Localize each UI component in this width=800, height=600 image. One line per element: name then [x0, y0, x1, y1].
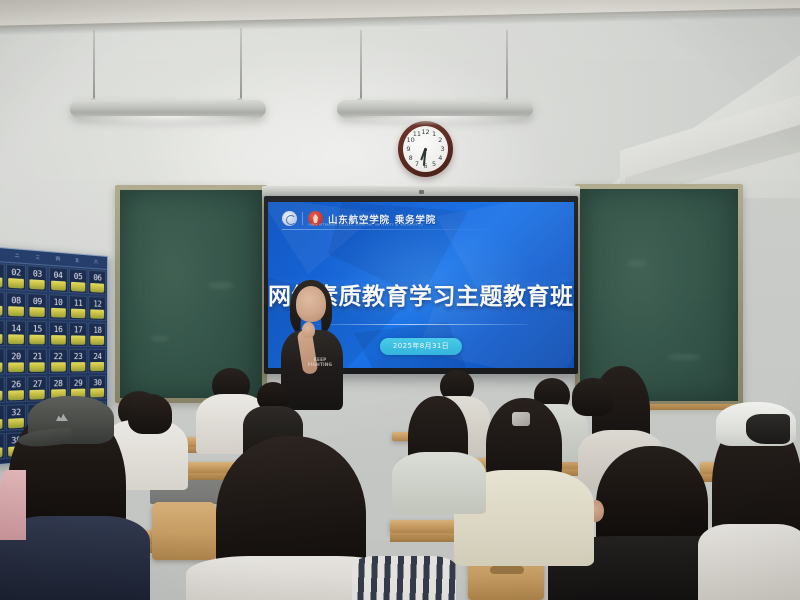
- pocket-chart-number: 06: [90, 273, 106, 282]
- pocket-chart-header-cell: 五: [68, 258, 87, 264]
- pocket-chart-cell: 25: [0, 377, 4, 404]
- lamp-wire-right-b: [506, 30, 508, 102]
- student-pink-sliver: [0, 470, 26, 540]
- pocket-chart-number: 13: [0, 323, 3, 332]
- pocket-chart-number: 05: [70, 272, 86, 281]
- pendant-lamp-right: [337, 100, 533, 118]
- pocket-chart-number: 18: [90, 326, 106, 334]
- chair-handle-slot: [490, 566, 524, 574]
- pocket-chart-number: 19: [0, 352, 3, 360]
- pocket-chart-pouch: [71, 309, 85, 319]
- pocket-chart-number: 26: [7, 380, 25, 388]
- pocket-chart-number: 27: [29, 380, 47, 388]
- pocket-chart-pouch: [51, 308, 66, 318]
- pocket-chart-row: 070809101112: [0, 290, 107, 322]
- pocket-chart-cell: 31: [0, 405, 4, 432]
- pocket-chart-cell: 12: [89, 296, 107, 321]
- pocket-chart-cell: 16: [49, 321, 68, 346]
- lamp-wire-left-b: [240, 28, 242, 102]
- pocket-chart-cell: 19: [0, 348, 4, 374]
- pocket-chart-cell: 24: [89, 349, 107, 373]
- pocket-chart-cell: 10: [49, 294, 68, 320]
- pocket-chart-row: 131415161718: [0, 318, 107, 348]
- pocket-chart-number: 22: [50, 352, 67, 360]
- pocket-chart-number: 04: [50, 271, 67, 280]
- pocket-chart-number: 11: [70, 299, 86, 307]
- clock-numeral: 4: [438, 154, 442, 161]
- pocket-chart-number: 25: [0, 380, 3, 389]
- chalkboard-left-surface: [120, 190, 262, 398]
- pocket-chart-pouch: [51, 335, 66, 345]
- pocket-chart-pouch: [91, 309, 105, 319]
- student-head: [128, 394, 172, 434]
- pocket-chart-number: 20: [7, 352, 25, 360]
- chalk-smudge: [667, 354, 701, 360]
- logo-divider: [302, 212, 303, 225]
- pocket-chart-pouch: [0, 277, 2, 288]
- pocket-chart-cell: 11: [69, 295, 87, 320]
- chalk-smudge: [208, 282, 234, 289]
- pocket-chart-cell: 27: [28, 376, 48, 402]
- chalk-smudge: [151, 336, 169, 341]
- pocket-chart-cell: 37: [0, 433, 4, 461]
- pocket-chart-pouch: [0, 419, 2, 430]
- pocket-chart-pouch: [8, 390, 24, 400]
- teacher-hand: [302, 322, 315, 338]
- pocket-chart-row: 192021222324: [0, 347, 107, 376]
- pocket-chart-cell: 15: [28, 321, 48, 347]
- clock-numeral: 1: [432, 131, 436, 138]
- pocket-chart-pouch: [8, 334, 24, 344]
- pocket-chart-number: 30: [90, 379, 106, 387]
- pocket-chart-header-cell: 六: [87, 259, 105, 264]
- pocket-chart-cell: 14: [6, 320, 26, 346]
- university-name-en: CABIN ATTENDANT COLLEGE, SHANDONG UNIVER…: [308, 223, 423, 226]
- student-body: [392, 452, 486, 514]
- clock-numeral: 3: [441, 146, 445, 153]
- student-body: [698, 524, 800, 600]
- teacher-head: [296, 286, 326, 322]
- pocket-chart-number: 16: [50, 325, 67, 333]
- clock-numeral: 9: [406, 146, 410, 153]
- pocket-chart-pouch: [0, 334, 2, 344]
- pocket-chart-header-cell: 四: [48, 256, 68, 262]
- pocket-chart-cell: 13: [0, 320, 4, 347]
- pocket-chart-pouch: [30, 307, 45, 317]
- pocket-chart-cell: 30: [89, 375, 107, 400]
- pocket-chart-number: 14: [7, 324, 25, 332]
- clock-numeral: 2: [438, 137, 442, 144]
- pocket-chart-number: 28: [50, 379, 67, 387]
- cap-panel-dark: [746, 414, 790, 444]
- pocket-chart-cell: 21: [28, 349, 48, 375]
- pocket-chart-number: 29: [70, 379, 86, 387]
- pocket-chart-cell: 01: [0, 262, 4, 290]
- pocket-chart-number: 10: [50, 298, 67, 307]
- clock-numeral: 10: [407, 137, 415, 144]
- pocket-chart-number: 02: [7, 268, 25, 277]
- clock-numeral: 8: [409, 154, 413, 161]
- classroom-photo: 12 1 2 3 4 5 6 7 8 9 10 11: [0, 0, 800, 600]
- pocket-chart-pouch: [8, 418, 24, 429]
- shirt-line-2: FIGHTING: [303, 362, 337, 367]
- pocket-chart-pouch: [91, 362, 105, 371]
- pocket-chart-cell: 23: [69, 349, 87, 374]
- pocket-chart-pouch: [0, 305, 2, 315]
- pocket-chart-pouch: [51, 362, 66, 372]
- slide-date-badge: 2025年8月31日: [380, 338, 462, 355]
- pocket-chart-cell: 17: [69, 322, 87, 347]
- pocket-chart-pouch: [71, 335, 85, 344]
- pocket-chart-cell: 02: [6, 264, 26, 291]
- pocket-chart-header-cell: 二: [7, 253, 28, 259]
- pocket-chart-number: 23: [70, 352, 86, 360]
- chalk-smudge: [627, 261, 647, 266]
- pocket-chart-pouch: [91, 283, 105, 293]
- pocket-chart-pouch: [51, 281, 66, 291]
- slide-center-glow: [323, 215, 531, 340]
- pocket-chart-number: 01: [0, 266, 3, 275]
- pocket-chart-cell: 08: [6, 292, 26, 319]
- pocket-chart-cell: 06: [89, 270, 107, 295]
- pocket-chart-pouch: [8, 306, 24, 316]
- pocket-chart-pouch: [30, 335, 45, 345]
- hair-clip-icon: [512, 412, 530, 426]
- pocket-chart-pouch: [0, 391, 2, 401]
- pocket-chart-pouch: [91, 336, 105, 345]
- pocket-chart-number: 37: [0, 437, 3, 446]
- pocket-chart-pouch: [71, 282, 85, 292]
- pocket-chart-number: 31: [0, 409, 3, 418]
- clock-face: 12 1 2 3 4 5 6 7 8 9 10 11: [403, 126, 448, 172]
- pocket-chart-cell: 05: [69, 268, 87, 294]
- lamp-wire-left-a: [93, 30, 95, 102]
- pocket-chart-pouch: [30, 279, 45, 289]
- pocket-chart-number: 17: [70, 326, 86, 334]
- clock-numeral: 11: [413, 131, 421, 138]
- pocket-chart-cell: 04: [49, 267, 68, 293]
- pocket-chart-number: 07: [0, 295, 3, 304]
- lamp-wire-right-a: [360, 30, 362, 102]
- university-seal-icon: [282, 211, 297, 226]
- clock-center-pin: [424, 148, 427, 151]
- pocket-chart-number: 12: [90, 300, 106, 308]
- pocket-chart-cell: 09: [28, 293, 48, 319]
- teacher-shirt-text: KEEP FIGHTING: [303, 357, 337, 368]
- pocket-chart-pouch: [91, 388, 105, 398]
- pocket-chart-header-cell: 一: [0, 251, 7, 257]
- pocket-chart-cell: 07: [0, 291, 4, 318]
- pocket-chart-pouch: [30, 390, 45, 400]
- chair-mid-left: [152, 502, 216, 560]
- pendant-lamp-left: [70, 100, 266, 118]
- pocket-chart-header-cell: 三: [28, 255, 48, 261]
- pocket-chart-cell: 18: [89, 322, 107, 347]
- clock-numeral: 5: [432, 161, 436, 168]
- slide-logo-underline: [282, 229, 494, 230]
- screen-housing-dot: [419, 190, 424, 194]
- pocket-chart-pouch: [30, 362, 45, 372]
- chalkboard-left: [115, 185, 267, 403]
- pocket-chart-cell: 20: [6, 348, 26, 374]
- pocket-chart-pouch: [0, 447, 2, 458]
- chalkboard-right: [575, 184, 743, 406]
- pocket-chart-pouch: [71, 362, 85, 371]
- student-head: [572, 378, 614, 416]
- wall-clock: 12 1 2 3 4 5 6 7 8 9 10 11: [398, 121, 453, 177]
- pocket-chart-cell: 22: [49, 349, 68, 374]
- pocket-chart-pouch: [0, 363, 2, 373]
- chalkboard-right-surface: [580, 189, 738, 401]
- pocket-chart-cell: 32: [6, 404, 26, 431]
- clock-numeral: 7: [415, 161, 419, 168]
- student-striped-bottom: [352, 556, 456, 600]
- pocket-chart-number: 32: [7, 408, 25, 417]
- pocket-chart-number: 08: [7, 296, 25, 305]
- pocket-chart-pouch: [8, 362, 24, 372]
- pocket-chart-number: 03: [29, 269, 47, 278]
- pocket-chart-number: 09: [29, 297, 47, 306]
- pocket-chart-cell: 26: [6, 376, 26, 402]
- slide-title-rule: [316, 324, 528, 325]
- pocket-chart-pouch: [8, 278, 24, 289]
- clock-numeral: 12: [421, 128, 429, 135]
- pocket-chart-cell: 03: [28, 265, 48, 292]
- pocket-chart-number: 15: [29, 325, 47, 333]
- pocket-chart-number: 24: [90, 352, 106, 360]
- pocket-chart-number: 21: [29, 352, 47, 360]
